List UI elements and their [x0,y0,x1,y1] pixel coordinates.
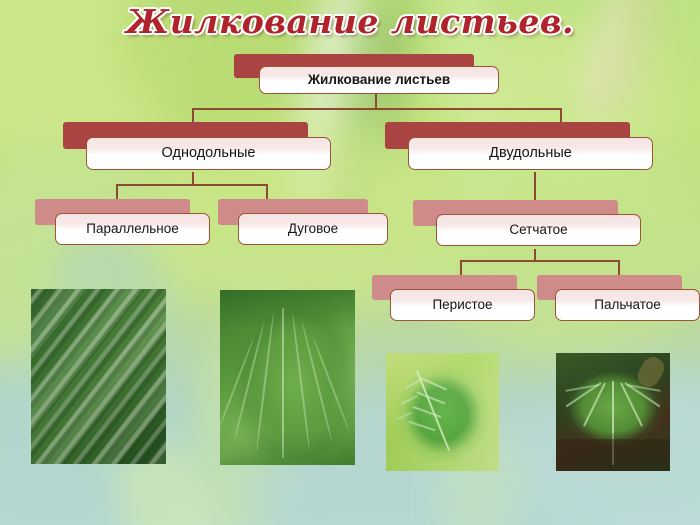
node-parallel-box[interactable]: Параллельное [55,213,210,245]
node-monocot[interactable]: Однодольные [63,122,331,172]
node-root-box[interactable]: Жилкование листьев [259,66,499,94]
arcuate-venation-photo [220,290,355,465]
node-root[interactable]: Жилкование листьев [234,54,499,94]
node-dicot[interactable]: Двудольные [385,122,653,172]
node-arcuate-box[interactable]: Дуговое [238,213,388,245]
connector-level3-bus [460,260,620,262]
connector-level2-left-bus [116,184,268,186]
connector-level1-bus [192,108,561,110]
node-parallel-label: Параллельное [86,222,178,236]
connector-dicot-stem [534,172,536,202]
node-palmate[interactable]: Пальчатое [537,275,700,323]
parallel-venation-photo [31,289,166,464]
pinnate-venation-photo [386,353,499,471]
node-palmate-box[interactable]: Пальчатое [555,289,700,321]
connector-root-stem [375,92,377,109]
node-dicot-label: Двудольные [489,146,572,161]
node-reticulate[interactable]: Сетчатое [413,200,641,249]
slide-canvas: Жилкование листьев. Жилкование листьев О… [0,0,700,525]
node-palmate-label: Пальчатое [594,298,661,312]
node-reticulate-box[interactable]: Сетчатое [436,214,641,246]
node-reticulate-label: Сетчатое [509,223,567,237]
node-arcuate[interactable]: Дуговое [218,199,388,247]
node-dicot-box[interactable]: Двудольные [408,137,653,170]
node-pinnate-label: Перистое [432,298,492,312]
node-pinnate-box[interactable]: Перистое [390,289,535,321]
node-arcuate-label: Дуговое [288,222,338,236]
node-parallel[interactable]: Параллельное [35,199,210,247]
slide-title: Жилкование листьев. [0,2,700,41]
node-pinnate[interactable]: Перистое [372,275,535,323]
palmate-venation-photo [556,353,670,471]
node-monocot-box[interactable]: Однодольные [86,137,331,170]
node-root-label: Жилкование листьев [308,73,450,87]
node-monocot-label: Однодольные [162,146,256,161]
